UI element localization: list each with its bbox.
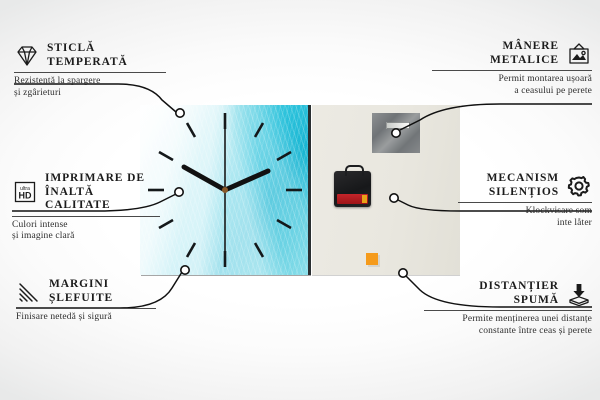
callout-tempered-glass: STICLĂ TEMPERATĂ Rezistentă la spargere …: [14, 42, 166, 99]
callout-description: Permit montarea ușoară a ceasului pe per…: [432, 74, 592, 97]
callout-header: DISTANȚIER SPUMĂ: [424, 280, 592, 307]
desc-line-1: Culori intense: [12, 220, 160, 232]
foam-spacer-arrow-icon: [566, 282, 592, 306]
desc-line-2: constante între ceas și perete: [424, 326, 592, 338]
quartz-movement: [334, 171, 371, 207]
battery: [337, 194, 368, 204]
desc-line-1: Permite menținerea unei distanțe: [424, 314, 592, 326]
ultra-hd-badge-icon: ultra HD: [12, 180, 38, 204]
title-line-2: TEMPERATĂ: [47, 56, 128, 70]
callout-polished-edges: MARGINI ȘLEFUITE Finisare netedă și sigu…: [16, 278, 156, 324]
divider: [458, 202, 592, 203]
callout-title: IMPRIMARE DE ÎNALTĂ CALITATE: [45, 172, 160, 213]
desc-line-1: Finisare netedă și sigură: [16, 312, 156, 324]
callout-description: Klockvisare som inte låter: [458, 206, 592, 229]
desc-line-1: Rezistentă la spargere: [14, 76, 166, 88]
callout-header: STICLĂ TEMPERATĂ: [14, 42, 166, 69]
desc-line-2: inte låter: [458, 218, 592, 230]
title-line-2: ÎNALTĂ CALITATE: [45, 186, 160, 213]
battery-terminal: [362, 195, 367, 203]
desc-line-2: și imagine clară: [12, 231, 160, 243]
beveled-edge-icon: [16, 280, 42, 304]
callout-header: ultra HD IMPRIMARE DE ÎNALTĂ CALITATE: [12, 172, 160, 213]
gear-icon: [566, 174, 592, 198]
movement-hook: [345, 165, 364, 176]
diamond-icon: [14, 44, 40, 68]
callout-description: Rezistentă la spargere și zgârieturi: [14, 76, 166, 99]
title-line-2: METALICE: [490, 54, 559, 68]
callout-metal-hangers: MÂNERE METALICE Permit montarea ușoară a…: [432, 40, 592, 97]
desc-line-2: a ceasului pe perete: [432, 86, 592, 98]
metal-hanger-bracket: [372, 113, 420, 153]
hanger-slot: [386, 122, 410, 129]
title-line-1: STICLĂ: [47, 42, 128, 56]
callout-title: STICLĂ TEMPERATĂ: [47, 42, 128, 69]
desc-line-1: Permit montarea ușoară: [432, 74, 592, 86]
callout-foam-spacer: DISTANȚIER SPUMĂ Permite menținerea unei…: [424, 280, 592, 337]
product-photo: [140, 105, 460, 275]
callout-description: Finisare netedă și sigură: [16, 312, 156, 324]
foam-spacer-pad: [366, 253, 378, 265]
title-line-1: MECANISM: [487, 172, 559, 186]
callout-description: Permite menținerea unei distanțe constan…: [424, 314, 592, 337]
title-line-1: MÂNERE: [490, 40, 559, 54]
callout-description: Culori intense și imagine clară: [12, 220, 160, 243]
title-line-1: DISTANȚIER: [479, 280, 559, 294]
callout-title: MARGINI ȘLEFUITE: [49, 278, 113, 305]
title-line-2: SILENȚIOS: [487, 186, 559, 200]
callout-header: MARGINI ȘLEFUITE: [16, 278, 156, 305]
callout-title: DISTANȚIER SPUMĂ: [479, 280, 559, 307]
callout-title: MÂNERE METALICE: [490, 40, 559, 67]
callout-title: MECANISM SILENȚIOS: [487, 172, 559, 199]
badge-main-text: HD: [19, 191, 32, 201]
title-line-2: SPUMĂ: [479, 294, 559, 308]
callout-header: MÂNERE METALICE: [432, 40, 592, 67]
callout-print-quality: ultra HD IMPRIMARE DE ÎNALTĂ CALITATE Cu…: [12, 172, 160, 243]
desc-line-2: și zgârieturi: [14, 88, 166, 100]
divider: [16, 308, 156, 309]
clock-back-panel: [312, 105, 460, 275]
desc-line-1: Klockvisare som: [458, 206, 592, 218]
divider: [14, 72, 166, 73]
divider: [12, 216, 160, 217]
infographic-canvas: STICLĂ TEMPERATĂ Rezistentă la spargere …: [0, 0, 600, 400]
callout-header: MECANISM SILENȚIOS: [458, 172, 592, 199]
title-line-2: ȘLEFUITE: [49, 292, 113, 306]
clock-dial: [140, 105, 310, 275]
title-line-1: MARGINI: [49, 278, 113, 292]
picture-hanger-icon: [566, 42, 592, 66]
title-line-1: IMPRIMARE DE: [45, 172, 160, 186]
divider: [432, 70, 592, 71]
callout-silent-mechanism: MECANISM SILENȚIOS Klockvisare som inte …: [458, 172, 592, 229]
divider: [424, 310, 592, 311]
